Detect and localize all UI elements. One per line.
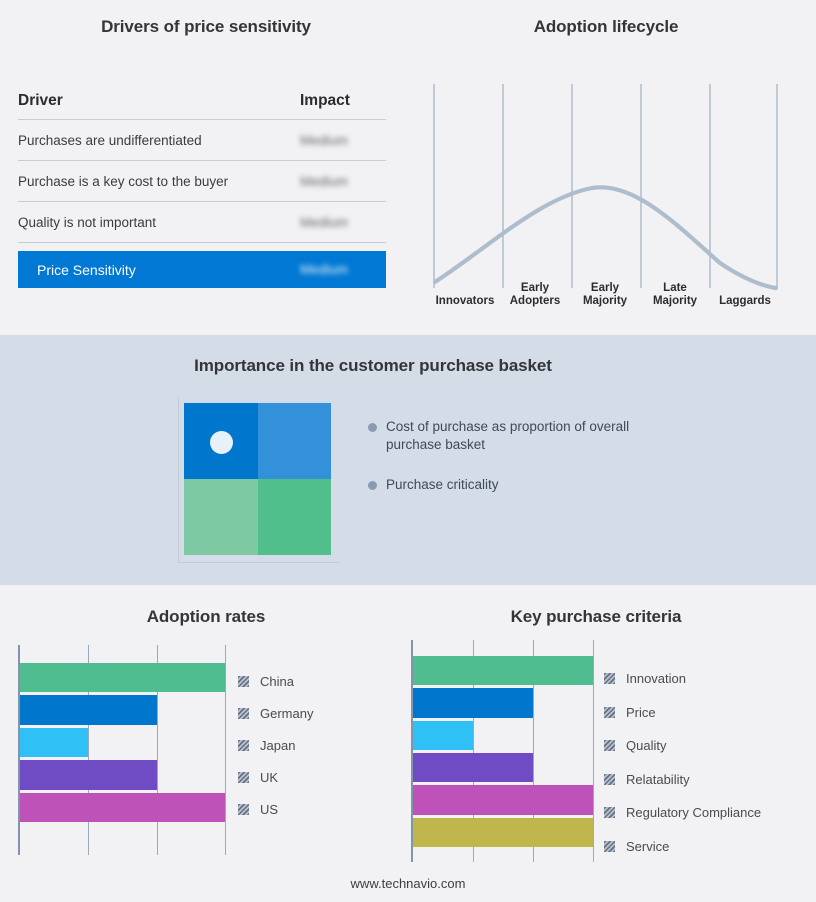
list-item: Purchase criticality (368, 476, 658, 494)
key-purchase-criteria-legend: InnovationPriceQualityRelatabilityRegula… (604, 662, 761, 863)
legend-label: UK (260, 770, 278, 785)
legend-label: Regulatory Compliance (626, 805, 761, 820)
summary-impact-value: Medium (300, 262, 386, 277)
legend-item: Quality (604, 729, 761, 763)
lifecycle-segment-innovators: Innovators (430, 264, 500, 310)
bullet-icon (368, 423, 377, 432)
infographic-page: Drivers of price sensitivity Driver Impa… (0, 0, 816, 902)
legend-item: Regulatory Compliance (604, 796, 761, 830)
legend-label: Service (626, 839, 669, 854)
legend-label: Japan (260, 738, 295, 753)
chart-bars (413, 656, 591, 850)
bar-row (413, 818, 591, 850)
legend-swatch-icon (604, 807, 615, 818)
adoption-rates-plot-area (18, 645, 223, 855)
table-row: Quality is not important Medium (18, 202, 386, 243)
adoption-lifecycle-chart: Innovators EarlyAdopters EarlyMajority L… (430, 78, 780, 310)
lifecycle-segment-early-majority: EarlyMajority (570, 264, 640, 310)
price-sensitivity-summary-row: Price Sensitivity Medium (18, 251, 386, 288)
legend-swatch-icon (238, 676, 249, 687)
matrix-legend-label: Cost of purchase as proportion of overal… (386, 418, 658, 454)
legend-item: UK (238, 761, 313, 793)
bar-quality (413, 721, 473, 750)
lifecycle-segment-late-majority: LateMajority (640, 264, 710, 310)
lifecycle-segment-labels: Innovators EarlyAdopters EarlyMajority L… (430, 264, 780, 310)
bar-us (20, 793, 225, 822)
bar-row (413, 721, 591, 753)
driver-label: Quality is not important (18, 215, 300, 230)
legend-label: Price (626, 705, 656, 720)
matrix-position-marker (210, 431, 233, 454)
chart-gridline (593, 640, 594, 862)
bar-service (413, 818, 593, 847)
column-header-driver: Driver (18, 92, 300, 110)
list-item: Cost of purchase as proportion of overal… (368, 418, 658, 454)
bar-row (413, 688, 591, 720)
matrix-legend-label: Purchase criticality (386, 476, 499, 494)
legend-item: Innovation (604, 662, 761, 696)
footer-url: www.technavio.com (0, 876, 816, 891)
lifecycle-segment-laggards: Laggards (710, 264, 780, 310)
legend-item: Japan (238, 729, 313, 761)
legend-swatch-icon (238, 804, 249, 815)
bar-row (20, 793, 223, 825)
key-purchase-criteria-chart (411, 640, 596, 862)
impact-value: Medium (300, 133, 386, 148)
legend-label: US (260, 802, 278, 817)
lifecycle-segment-early-adopters: EarlyAdopters (500, 264, 570, 310)
bar-china (20, 663, 225, 692)
legend-swatch-icon (238, 772, 249, 783)
legend-swatch-icon (604, 740, 615, 751)
legend-label: Innovation (626, 671, 686, 686)
chart-gridline (225, 645, 226, 855)
bar-price (413, 688, 533, 717)
bar-row (413, 785, 591, 817)
legend-item: Service (604, 830, 761, 864)
legend-swatch-icon (604, 707, 615, 718)
basket-panel-title: Importance in the customer purchase bask… (118, 356, 628, 376)
legend-label: China (260, 674, 294, 689)
lifecycle-panel-title: Adoption lifecycle (430, 17, 782, 37)
adoption-rates-chart (18, 645, 228, 855)
summary-label: Price Sensitivity (37, 262, 319, 278)
bar-germany (20, 695, 157, 724)
drivers-panel-title: Drivers of price sensitivity (18, 17, 394, 37)
legend-label: Quality (626, 738, 666, 753)
bar-row (413, 753, 591, 785)
legend-label: Germany (260, 706, 313, 721)
driver-label: Purchase is a key cost to the buyer (18, 174, 300, 189)
legend-item: China (238, 665, 313, 697)
legend-swatch-icon (604, 841, 615, 852)
matrix-quadrant-bottom-left (184, 479, 258, 555)
bar-row (413, 656, 591, 688)
bar-row (20, 728, 223, 760)
matrix-quadrant-top-right (258, 403, 332, 479)
adoption-rates-legend: ChinaGermanyJapanUKUS (238, 665, 313, 825)
legend-item: US (238, 793, 313, 825)
impact-value: Medium (300, 174, 386, 189)
column-header-impact: Impact (300, 92, 386, 110)
bar-innovation (413, 656, 593, 685)
bar-row (20, 760, 223, 792)
purchase-basket-matrix (178, 398, 340, 563)
legend-item: Germany (238, 697, 313, 729)
driver-label: Purchases are undifferentiated (18, 133, 300, 148)
legend-swatch-icon (604, 673, 615, 684)
bar-japan (20, 728, 88, 757)
table-row: Purchase is a key cost to the buyer Medi… (18, 161, 386, 202)
bar-row (20, 695, 223, 727)
bullet-icon (368, 481, 377, 490)
chart-bars (20, 663, 223, 825)
matrix-legend: Cost of purchase as proportion of overal… (368, 418, 658, 517)
drivers-table: Driver Impact Purchases are undifferenti… (18, 92, 386, 288)
legend-swatch-icon (604, 774, 615, 785)
table-row: Purchases are undifferentiated Medium (18, 120, 386, 161)
legend-item: Price (604, 696, 761, 730)
bar-regulatory-compliance (413, 785, 593, 814)
legend-label: Relatability (626, 772, 690, 787)
drivers-table-header: Driver Impact (18, 92, 386, 120)
key-purchase-criteria-plot-area (411, 640, 591, 862)
legend-item: Relatability (604, 763, 761, 797)
bar-row (20, 663, 223, 695)
adoption-rates-panel-title: Adoption rates (18, 607, 394, 627)
matrix-quadrant-top-left (184, 403, 258, 479)
bar-uk (20, 760, 157, 789)
bar-relatability (413, 753, 533, 782)
matrix-quadrants (184, 403, 331, 555)
legend-swatch-icon (238, 740, 249, 751)
impact-value: Medium (300, 215, 386, 230)
matrix-quadrant-bottom-right (258, 479, 332, 555)
purchase-criteria-panel-title: Key purchase criteria (408, 607, 784, 627)
legend-swatch-icon (238, 708, 249, 719)
